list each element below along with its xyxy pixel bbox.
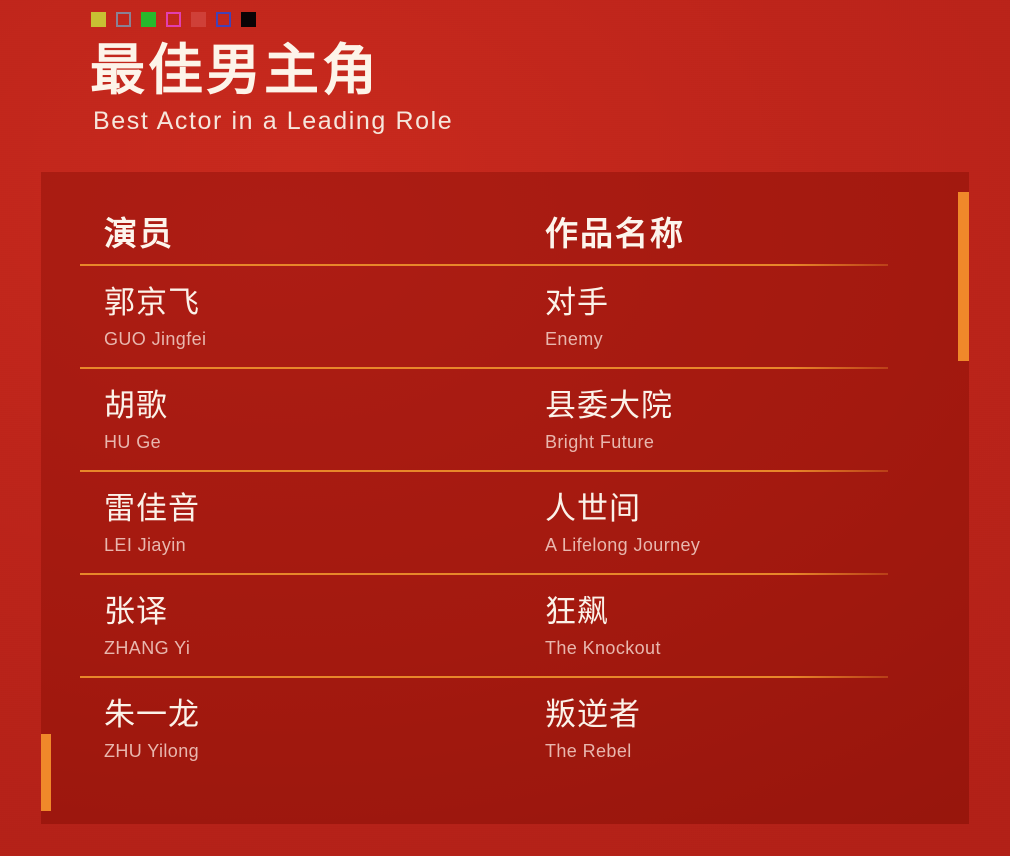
chip-blue-outline xyxy=(216,12,231,27)
column-header-actor: 演员 xyxy=(80,212,545,256)
table-row: 胡歌HU Ge县委大院Bright Future xyxy=(80,369,888,470)
work-title-english: A Lifelong Journey xyxy=(545,532,888,558)
work-title-chinese: 狂飙 xyxy=(545,592,888,632)
cell-actor: 胡歌HU Ge xyxy=(80,386,545,455)
award-poster: 最佳男主角 Best Actor in a Leading Role 演员 作品… xyxy=(0,0,1010,856)
actor-name-chinese: 朱一龙 xyxy=(104,695,545,735)
accent-bar-left xyxy=(41,734,51,811)
chip-red-filled xyxy=(191,12,206,27)
chip-magenta-outline xyxy=(166,12,181,27)
cell-actor: 郭京飞GUO Jingfei xyxy=(80,283,545,352)
work-title-english: Enemy xyxy=(545,326,888,352)
page-title-chinese: 最佳男主角 xyxy=(90,39,380,101)
work-title-chinese: 对手 xyxy=(545,283,888,323)
work-title-chinese: 叛逆者 xyxy=(545,695,888,735)
actor-name-romanized: ZHU Yilong xyxy=(104,738,545,764)
actor-name-romanized: HU Ge xyxy=(104,429,545,455)
chip-green-filled xyxy=(141,12,156,27)
actor-name-chinese: 雷佳音 xyxy=(104,489,545,529)
actor-name-chinese: 胡歌 xyxy=(104,386,545,426)
chip-olive-filled xyxy=(91,12,106,27)
actor-name-romanized: ZHANG Yi xyxy=(104,635,545,661)
table-row: 雷佳音LEI Jiayin人世间A Lifelong Journey xyxy=(80,472,888,573)
cell-work: 人世间A Lifelong Journey xyxy=(545,489,888,558)
actor-name-chinese: 张译 xyxy=(104,592,545,632)
work-title-chinese: 县委大院 xyxy=(545,386,888,426)
table-body: 郭京飞GUO Jingfei对手Enemy胡歌HU Ge县委大院Bright F… xyxy=(80,266,888,779)
actor-name-chinese: 郭京飞 xyxy=(104,283,545,323)
table-row: 张译ZHANG Yi狂飙The Knockout xyxy=(80,575,888,676)
work-title-chinese: 人世间 xyxy=(545,489,888,529)
cell-work: 对手Enemy xyxy=(545,283,888,352)
actor-name-romanized: LEI Jiayin xyxy=(104,532,545,558)
table-row: 郭京飞GUO Jingfei对手Enemy xyxy=(80,266,888,367)
page-title-english: Best Actor in a Leading Role xyxy=(93,105,453,137)
cell-actor: 朱一龙ZHU Yilong xyxy=(80,695,545,764)
table-row: 朱一龙ZHU Yilong叛逆者The Rebel xyxy=(80,678,888,779)
column-header-work: 作品名称 xyxy=(545,212,888,256)
cell-actor: 张译ZHANG Yi xyxy=(80,592,545,661)
work-title-english: The Rebel xyxy=(545,738,888,764)
work-title-english: Bright Future xyxy=(545,429,888,455)
cell-work: 县委大院Bright Future xyxy=(545,386,888,455)
work-title-english: The Knockout xyxy=(545,635,888,661)
nominee-table: 演员 作品名称 郭京飞GUO Jingfei对手Enemy胡歌HU Ge县委大院… xyxy=(80,212,888,779)
table-header-row: 演员 作品名称 xyxy=(80,212,888,264)
chip-black-filled xyxy=(241,12,256,27)
cell-actor: 雷佳音LEI Jiayin xyxy=(80,489,545,558)
actor-name-romanized: GUO Jingfei xyxy=(104,326,545,352)
accent-bar-right xyxy=(958,192,969,361)
decorative-color-chips xyxy=(91,12,256,27)
chip-gray-outline xyxy=(116,12,131,27)
cell-work: 狂飙The Knockout xyxy=(545,592,888,661)
cell-work: 叛逆者The Rebel xyxy=(545,695,888,764)
